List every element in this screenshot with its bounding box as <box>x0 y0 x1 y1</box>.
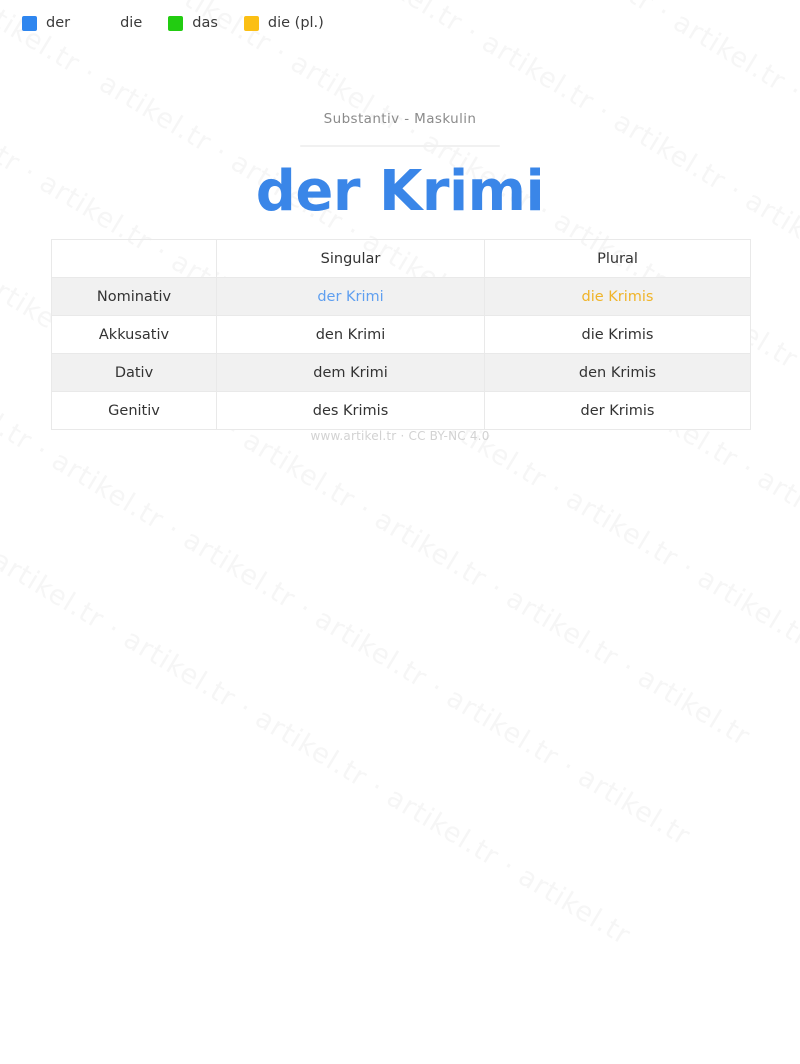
cell-singular-form: den Krimi <box>217 316 485 354</box>
table-header: Singular Plural <box>52 240 751 278</box>
cell-plural-form: die Krimis <box>485 316 751 354</box>
table-row: Akkusativden Krimidie Krimis <box>52 316 751 354</box>
table-row: Nominativder Krimidie Krimis <box>52 278 751 316</box>
column-header-singular: Singular <box>217 240 485 278</box>
cell-plural-form: der Krimis <box>485 392 751 430</box>
cell-case-label: Dativ <box>52 354 217 392</box>
header-divider <box>300 145 500 147</box>
legend-item-die: die <box>96 16 142 31</box>
table-row: Genitivdes Krimisder Krimis <box>52 392 751 430</box>
page-title: der Krimi <box>0 161 800 224</box>
legend-item-das: das <box>168 16 218 31</box>
color-swatch-icon <box>96 16 111 31</box>
cell-plural-form: die Krimis <box>485 278 751 316</box>
table-body: Nominativder Krimidie KrimisAkkusativden… <box>52 278 751 430</box>
color-swatch-icon <box>168 16 183 31</box>
color-swatch-icon <box>22 16 37 31</box>
legend-item-label: das <box>192 16 218 31</box>
legend-item-diepl-plural: die (pl.) <box>244 16 324 31</box>
color-swatch-icon <box>244 16 259 31</box>
declension-table-container: Singular Plural Nominativder Krimidie Kr… <box>51 239 750 430</box>
cell-case-label: Akkusativ <box>52 316 217 354</box>
legend-item-label: die <box>120 16 142 31</box>
footer-credit: www.artikel.tr · CC BY-NC 4.0 <box>0 429 800 443</box>
legend-item-label: die (pl.) <box>268 16 324 31</box>
table-row: Dativdem Krimiden Krimis <box>52 354 751 392</box>
legend-item-der: der <box>22 16 70 31</box>
declension-card: derdiedasdie (pl.) Substantiv - Maskulin… <box>0 0 800 533</box>
column-header-plural: Plural <box>485 240 751 278</box>
word-type-subtitle: Substantiv - Maskulin <box>0 113 800 127</box>
table-header-row: Singular Plural <box>52 240 751 278</box>
card-header: Substantiv - Maskulin der Krimi <box>0 113 800 223</box>
article-color-legend: derdiedasdie (pl.) <box>22 16 324 31</box>
column-header-case <box>52 240 217 278</box>
declension-table: Singular Plural Nominativder Krimidie Kr… <box>51 239 751 430</box>
cell-case-label: Nominativ <box>52 278 217 316</box>
cell-singular-form: des Krimis <box>217 392 485 430</box>
cell-singular-form: dem Krimi <box>217 354 485 392</box>
legend-item-label: der <box>46 16 70 31</box>
cell-singular-form: der Krimi <box>217 278 485 316</box>
cell-plural-form: den Krimis <box>485 354 751 392</box>
cell-case-label: Genitiv <box>52 392 217 430</box>
